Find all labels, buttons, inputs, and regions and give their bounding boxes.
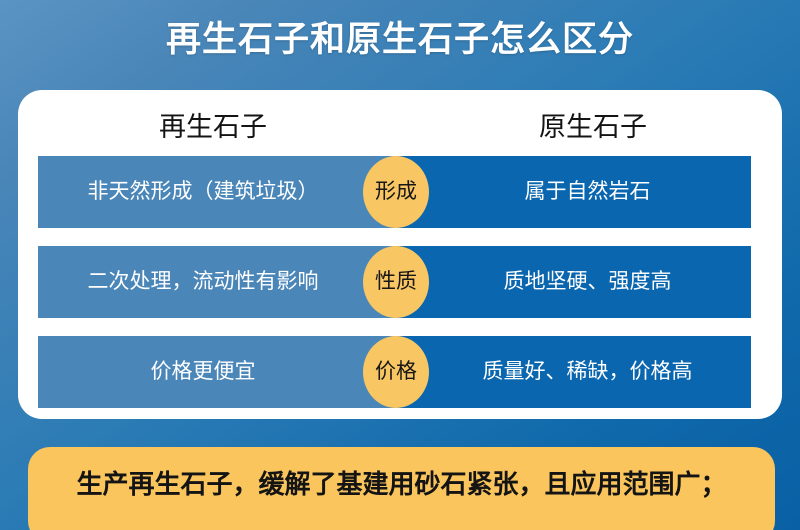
row-category-badge: 性质 <box>363 246 429 318</box>
comparison-row: 二次处理，流动性有影响 质地坚硬、强度高 性质 <box>38 246 762 318</box>
conclusion-banner: 生产再生石子，缓解了基建用砂石紧张，且应用范围广； <box>28 447 775 530</box>
row-right-value: 质地坚硬、强度高 <box>396 246 751 318</box>
comparison-row: 价格更便宜 质量好、稀缺，价格高 价格 <box>38 336 762 408</box>
row-right-value: 质量好、稀缺，价格高 <box>396 336 751 408</box>
poster-title: 再生石子和原生石子怎么区分 <box>0 18 800 62</box>
column-header-left: 再生石子 <box>38 104 388 150</box>
row-category-badge: 价格 <box>363 336 429 408</box>
row-left-value: 价格更便宜 <box>38 336 396 408</box>
row-left-value: 二次处理，流动性有影响 <box>38 246 396 318</box>
conclusion-banner-text: 生产再生石子，缓解了基建用砂石紧张，且应用范围广； <box>28 447 775 522</box>
comparison-row: 非天然形成（建筑垃圾） 属于自然岩石 形成 <box>38 156 762 228</box>
column-header-right: 原生石子 <box>418 104 768 150</box>
infographic-poster: 再生石子和原生石子怎么区分 再生石子 原生石子 非天然形成（建筑垃圾） 属于自然… <box>0 0 800 530</box>
row-left-value: 非天然形成（建筑垃圾） <box>38 156 396 228</box>
row-right-value: 属于自然岩石 <box>396 156 751 228</box>
comparison-card: 再生石子 原生石子 非天然形成（建筑垃圾） 属于自然岩石 形成 二次处理，流动性… <box>18 90 782 419</box>
row-category-badge: 形成 <box>363 156 429 228</box>
comparison-rows: 非天然形成（建筑垃圾） 属于自然岩石 形成 二次处理，流动性有影响 质地坚硬、强… <box>38 156 762 408</box>
column-headers: 再生石子 原生石子 <box>18 104 782 150</box>
